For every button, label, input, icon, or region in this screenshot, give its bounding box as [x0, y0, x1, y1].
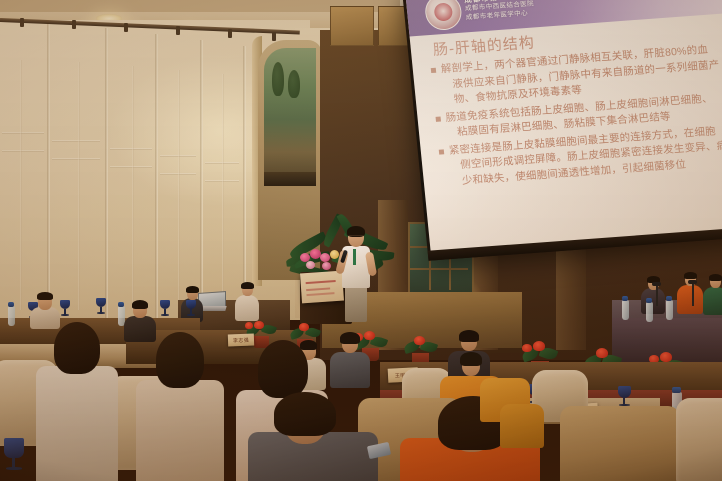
attendee-hair: [54, 322, 100, 374]
attendee-hair: [132, 300, 148, 309]
panelist-body: [703, 287, 722, 315]
rail-hook: [20, 18, 24, 27]
panel-moulding: [2, 150, 44, 152]
hospital-crest-icon: [424, 0, 463, 31]
panel-moulding: [52, 140, 100, 142]
panel-moulding: [132, 66, 134, 310]
red-bloom: [254, 321, 264, 329]
banquet-chair: [676, 398, 722, 481]
panelist-hair: [709, 274, 722, 281]
panel-moulding: [110, 166, 152, 168]
operator-hair: [186, 286, 199, 293]
attendee-back-row: [30, 292, 60, 326]
flower-bloom: [322, 262, 331, 270]
attendee-front-row: [36, 322, 118, 481]
attendee-hair: [340, 332, 360, 344]
flower-bloom: [306, 261, 315, 269]
square-bullet-icon: [439, 149, 444, 154]
red-bloom: [660, 352, 672, 362]
rail-hook: [72, 20, 76, 29]
mic-capsule-icon: [652, 282, 661, 286]
attendee-hair: [258, 340, 308, 398]
blue-goblet: [160, 300, 170, 316]
landscape-mural: [264, 48, 316, 178]
panel-moulding: [178, 70, 180, 310]
attendee-body: [136, 380, 224, 481]
wall-seam: [155, 34, 158, 320]
attendee-hair: [460, 352, 482, 366]
glasses-icon: [349, 235, 363, 239]
water-bottle: [666, 300, 673, 320]
red-bloom: [522, 344, 532, 352]
rail-hook: [124, 23, 128, 32]
rail-hook: [176, 26, 180, 35]
panel-moulding: [222, 74, 224, 310]
water-bottle: [8, 306, 15, 326]
attendee-body: [330, 352, 370, 388]
panelist-body: [677, 285, 703, 314]
attendee-front-row: [136, 332, 224, 481]
blue-goblet: [60, 300, 70, 316]
presenter: [336, 228, 376, 320]
presenter-lanyard: [353, 249, 356, 265]
bottle-cap: [666, 296, 672, 301]
banquet-chair: [560, 406, 680, 481]
mic-capsule-icon: [688, 280, 697, 284]
cabinet-door: [330, 6, 374, 46]
red-bloom: [533, 341, 545, 351]
panel-moulding: [78, 62, 80, 310]
panel-moulding: [52, 158, 100, 160]
mural-tree: [288, 70, 300, 98]
water-bottle: [646, 302, 653, 322]
wall-seam: [200, 40, 203, 320]
square-bullet-icon: [431, 68, 436, 73]
gooseneck-mic: [656, 284, 658, 306]
projection-screen: 成都市第一人民医院 成都市中西医结合医院 成都市老年医学中心 肠-肝轴的结构 解…: [402, 0, 722, 261]
bottle-cap: [646, 298, 652, 303]
water-bottle: [622, 300, 629, 320]
square-bullet-icon: [435, 116, 440, 121]
attendee-hair: [156, 332, 204, 388]
blue-goblet: [96, 298, 106, 314]
panelist-body: [641, 288, 665, 314]
red-bloom: [299, 323, 309, 331]
slide-header-band: 成都市第一人民医院 成都市中西医结合医院 成都市老年医学中心: [405, 0, 722, 37]
panelist: [702, 274, 722, 314]
crest-inner: [433, 2, 453, 21]
attendee-hair: [459, 330, 479, 342]
flower-bloom: [320, 253, 330, 262]
screen-surface: 成都市第一人民医院 成都市中西医结合医院 成都市老年医学中心 肠-肝轴的结构 解…: [405, 0, 722, 252]
presenter-legs: [345, 286, 367, 322]
attendee-right: [500, 388, 544, 444]
attendee-hair: [37, 292, 53, 300]
slide-logo-text: 成都市第一人民医院 成都市中西医结合医院 成都市老年医学中心: [464, 0, 586, 22]
attendee: [330, 332, 370, 386]
red-bloom: [245, 322, 253, 329]
attendee-foreground-grey: [248, 392, 378, 481]
wall-seam: [243, 46, 246, 320]
mural-frame-band: [264, 172, 316, 186]
panelist-hair: [684, 272, 697, 279]
av-operator-2: [234, 282, 260, 320]
panel-moulding: [110, 148, 152, 150]
attendee-body: [36, 366, 118, 481]
conference-hall-photo: 成都市第一人民医院 成都市中西医结合医院 成都市老年医学中心 肠-肝轴的结构 解…: [0, 0, 722, 481]
wall-seam: [105, 28, 108, 320]
blue-goblet: [4, 438, 24, 472]
operator-body: [235, 295, 259, 321]
rail-hook: [228, 29, 232, 38]
gooseneck-mic: [692, 282, 694, 306]
rail-hook: [272, 32, 276, 41]
attendee-hair: [274, 392, 336, 436]
red-bloom: [596, 348, 608, 358]
panel-moulding: [20, 60, 22, 310]
operator-hair: [241, 282, 254, 289]
panel-moulding: [2, 132, 44, 134]
panelist: [676, 272, 704, 312]
wall-seam: [47, 22, 50, 320]
bottle-cap: [672, 387, 681, 393]
attendee-body: [500, 404, 544, 448]
bottle-cap: [8, 302, 14, 307]
bottle-cap: [622, 296, 628, 301]
blue-goblet: [618, 386, 631, 407]
mural-tree: [272, 62, 284, 96]
blue-goblet: [186, 300, 196, 316]
slide-body: 解剖学上，两个器官通过门静脉相互关联，肝脏80%的血 液供应来自门静脉，门静脉中…: [430, 40, 722, 192]
red-bloom: [414, 336, 425, 345]
